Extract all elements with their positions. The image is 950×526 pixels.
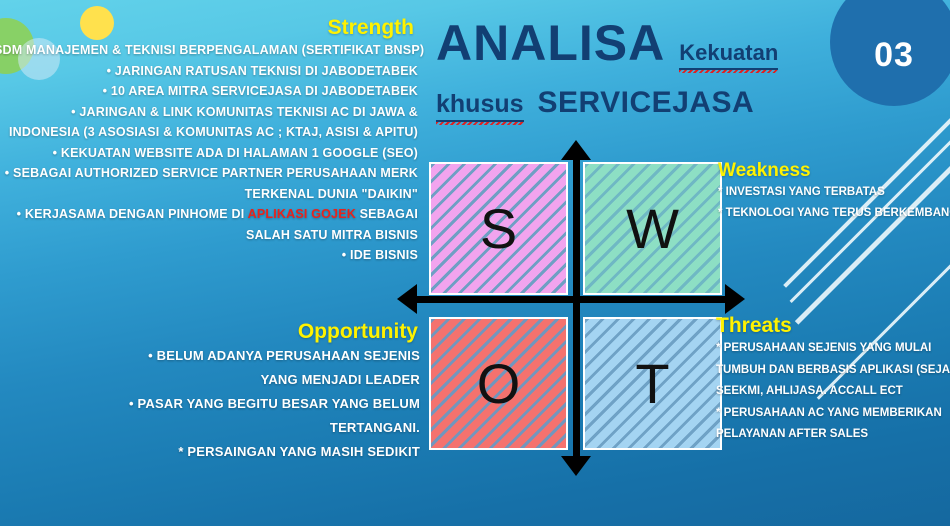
threats-heading: Threats bbox=[716, 314, 950, 338]
arrow-left-icon bbox=[397, 284, 417, 314]
swot-analysis-slide: 03 ANALISA Kekuatan khusus SERVICEJASA S… bbox=[0, 0, 950, 526]
title-line-1: ANALISA Kekuatan bbox=[436, 18, 836, 70]
quadrant-threats: T bbox=[583, 317, 722, 450]
title-servicejasa: SERVICEJASA bbox=[538, 86, 755, 120]
strength-line-gojek: • KERJASAMA DENGAN PINHOME DI APLIKASI G… bbox=[0, 204, 418, 225]
weakness-line: * INVESTASI YANG TERBATAS bbox=[718, 182, 950, 203]
quadrant-opportunity: O bbox=[429, 317, 568, 450]
threats-line: TUMBUH DAN BERBASIS APLIKASI (SEJASA, bbox=[716, 360, 950, 382]
title-kekuatan: Kekuatan bbox=[679, 40, 778, 70]
title-block: ANALISA Kekuatan khusus SERVICEJASA bbox=[436, 18, 836, 122]
quadrant-letter-o: O bbox=[477, 351, 521, 416]
arrow-right-icon bbox=[725, 284, 745, 314]
strength-line: • 10 AREA MITRA SERVICEJASA DI JABODETAB… bbox=[0, 81, 418, 102]
opportunity-heading: Opportunity bbox=[0, 320, 420, 344]
gojek-highlight: APLIKASI GOJEK bbox=[248, 207, 356, 221]
gojek-line-prefix: • KERJASAMA DENGAN PINHOME DI bbox=[17, 207, 248, 221]
threats-line: SEEKMI, AHLIJASA. ACCALL ECT bbox=[716, 381, 950, 403]
arrow-up-icon bbox=[561, 140, 591, 160]
threats-line: PELAYANAN AFTER SALES bbox=[716, 424, 950, 446]
opportunity-line: TERTANGANI. bbox=[0, 416, 420, 440]
strength-line: SDM MANAJEMEN & TEKNISI BERPENGALAMAN (S… bbox=[0, 40, 418, 61]
quadrant-letter-t: T bbox=[635, 351, 669, 416]
opportunity-line: * PERSAINGAN YANG MASIH SEDIKIT bbox=[0, 440, 420, 464]
strength-line: • SEBAGAI AUTHORIZED SERVICE PARTNER PER… bbox=[0, 163, 418, 184]
title-line-2: khusus SERVICEJASA bbox=[436, 86, 836, 122]
strength-line: • KEKUATAN WEBSITE ADA DI HALAMAN 1 GOOG… bbox=[0, 143, 418, 164]
strength-line: • JARINGAN RATUSAN TEKNISI DI JABODETABE… bbox=[0, 61, 418, 82]
quadrant-letter-s: S bbox=[480, 196, 517, 261]
vertical-axis-line bbox=[573, 154, 580, 466]
quadrant-weakness: W bbox=[583, 162, 722, 295]
threats-line: * PERUSAHAAN SEJENIS YANG MULAI bbox=[716, 338, 950, 360]
strength-panel: Strength SDM MANAJEMEN & TEKNISI BERPENG… bbox=[0, 16, 418, 266]
opportunity-line: • PASAR YANG BEGITU BESAR YANG BELUM bbox=[0, 392, 420, 416]
weakness-line: * TEKNOLOGI YANG TERUS BERKEMBANG bbox=[718, 203, 950, 224]
weakness-heading: Weakness bbox=[718, 160, 950, 182]
arrow-down-icon bbox=[561, 456, 591, 476]
swot-matrix: S W O T bbox=[425, 150, 725, 475]
gojek-line-suffix: SEBAGAI bbox=[356, 207, 418, 221]
page-title: ANALISA bbox=[436, 18, 665, 68]
opportunity-line: YANG MENJADI LEADER bbox=[0, 368, 420, 392]
threats-line: * PERUSAHAAN AC YANG MEMBERIKAN bbox=[716, 403, 950, 425]
quadrant-strength: S bbox=[429, 162, 568, 295]
strength-line: TERKENAL DUNIA "DAIKIN" bbox=[0, 184, 418, 205]
slide-number-text: 03 bbox=[874, 10, 914, 75]
opportunity-line: • BELUM ADANYA PERUSAHAAN SEJENIS bbox=[0, 344, 420, 368]
strength-line: SALAH SATU MITRA BISNIS bbox=[0, 225, 418, 246]
quadrant-letter-w: W bbox=[626, 196, 679, 261]
weakness-panel: Weakness * INVESTASI YANG TERBATAS * TEK… bbox=[718, 160, 950, 224]
opportunity-panel: Opportunity • BELUM ADANYA PERUSAHAAN SE… bbox=[0, 320, 420, 464]
slide-number-badge: 03 bbox=[830, 0, 950, 106]
strength-line: • IDE BISNIS bbox=[0, 245, 418, 266]
title-khusus: khusus bbox=[436, 90, 524, 122]
horizontal-axis-line bbox=[415, 296, 735, 303]
strength-heading: Strength bbox=[0, 16, 418, 40]
strength-line: INDONESIA (3 ASOSIASI & KOMUNITAS AC ; K… bbox=[0, 122, 418, 143]
threats-panel: Threats * PERUSAHAAN SEJENIS YANG MULAI … bbox=[716, 314, 950, 446]
strength-line: • JARINGAN & LINK KOMUNITAS TEKNISI AC D… bbox=[0, 102, 418, 123]
